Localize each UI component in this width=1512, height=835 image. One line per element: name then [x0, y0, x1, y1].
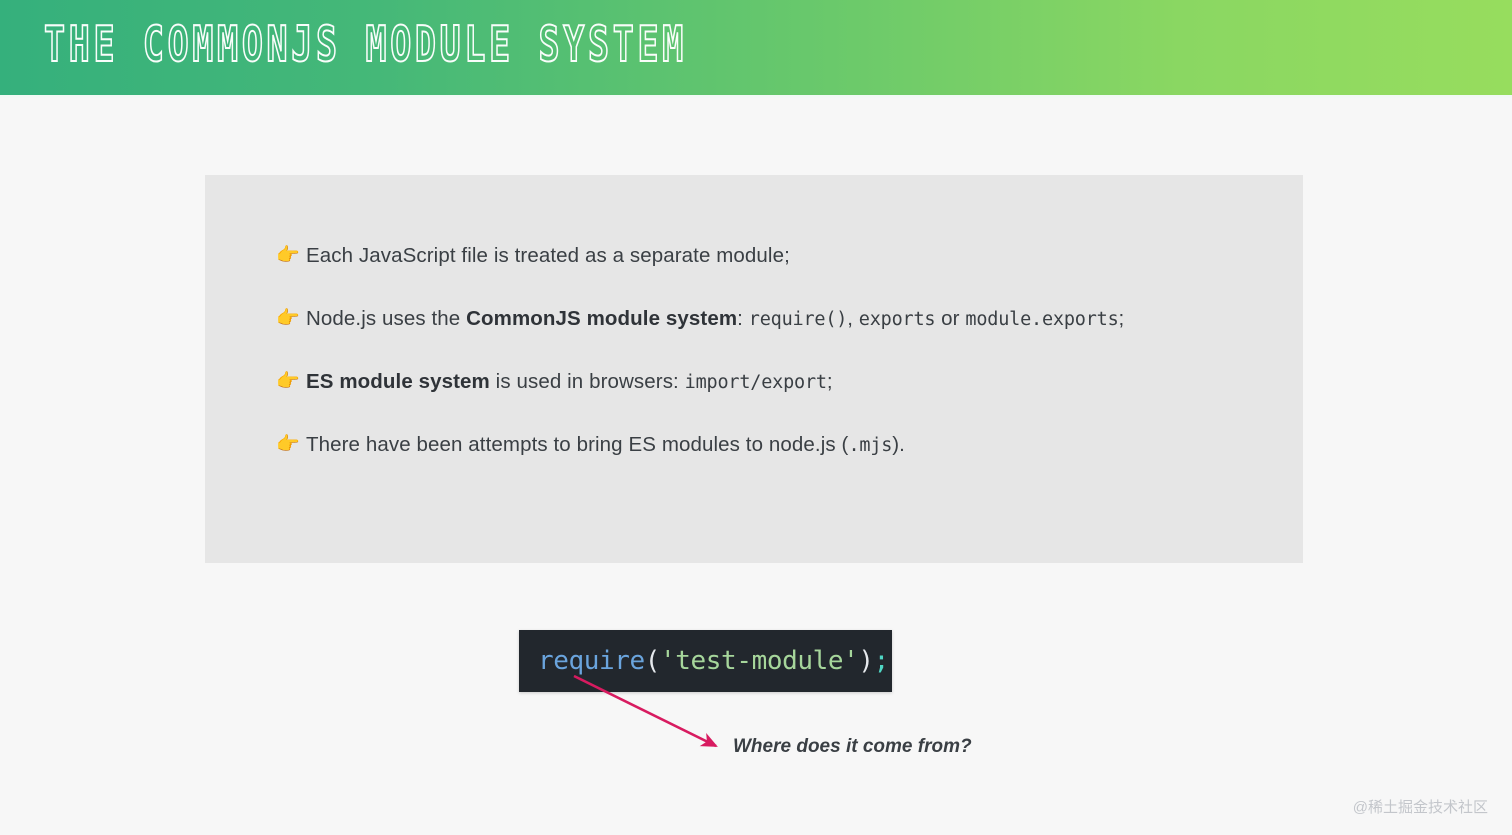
bullet-item: 👉Node.js uses the CommonJS module system…	[276, 305, 1276, 335]
pointing-hand-icon: 👉	[276, 368, 306, 396]
bullet-list: 👉Each JavaScript file is treated as a se…	[276, 242, 1276, 494]
code-snippet-line: require('test-module');	[519, 646, 889, 676]
code-token-punct: (	[645, 646, 660, 676]
content-panel: 👉Each JavaScript file is treated as a se…	[205, 175, 1303, 563]
banner-underglow-divider	[0, 95, 1512, 101]
pointing-hand-icon: 👉	[276, 305, 306, 333]
code-token-punct: )	[858, 646, 873, 676]
bullet-item: 👉Each JavaScript file is treated as a se…	[276, 242, 1276, 272]
pointing-hand-icon: 👉	[276, 431, 306, 459]
bullet-item: 👉There have been attempts to bring ES mo…	[276, 431, 1276, 461]
bullet-item-text: ES module system is used in browsers: im…	[306, 368, 1276, 397]
bullet-item-text: Node.js uses the CommonJS module system:…	[306, 305, 1276, 334]
code-token-str: 'test-module'	[660, 646, 858, 676]
pointing-hand-icon: 👉	[276, 242, 306, 270]
page-title: THE COMMONJS MODULE SYSTEM	[44, 20, 687, 69]
header-banner: THE COMMONJS MODULE SYSTEM	[0, 0, 1512, 95]
code-token-fn: require	[538, 646, 645, 676]
code-snippet-card: require('test-module');	[519, 630, 892, 692]
watermark-label: @稀土掘金技术社区	[1353, 796, 1488, 817]
code-token-semi: ;	[874, 646, 889, 676]
bullet-item: 👉ES module system is used in browsers: i…	[276, 368, 1276, 398]
annotation-label: Where does it come from?	[733, 736, 972, 758]
bullet-item-text: Each JavaScript file is treated as a sep…	[306, 242, 1276, 270]
bullet-item-text: There have been attempts to bring ES mod…	[306, 431, 1276, 460]
